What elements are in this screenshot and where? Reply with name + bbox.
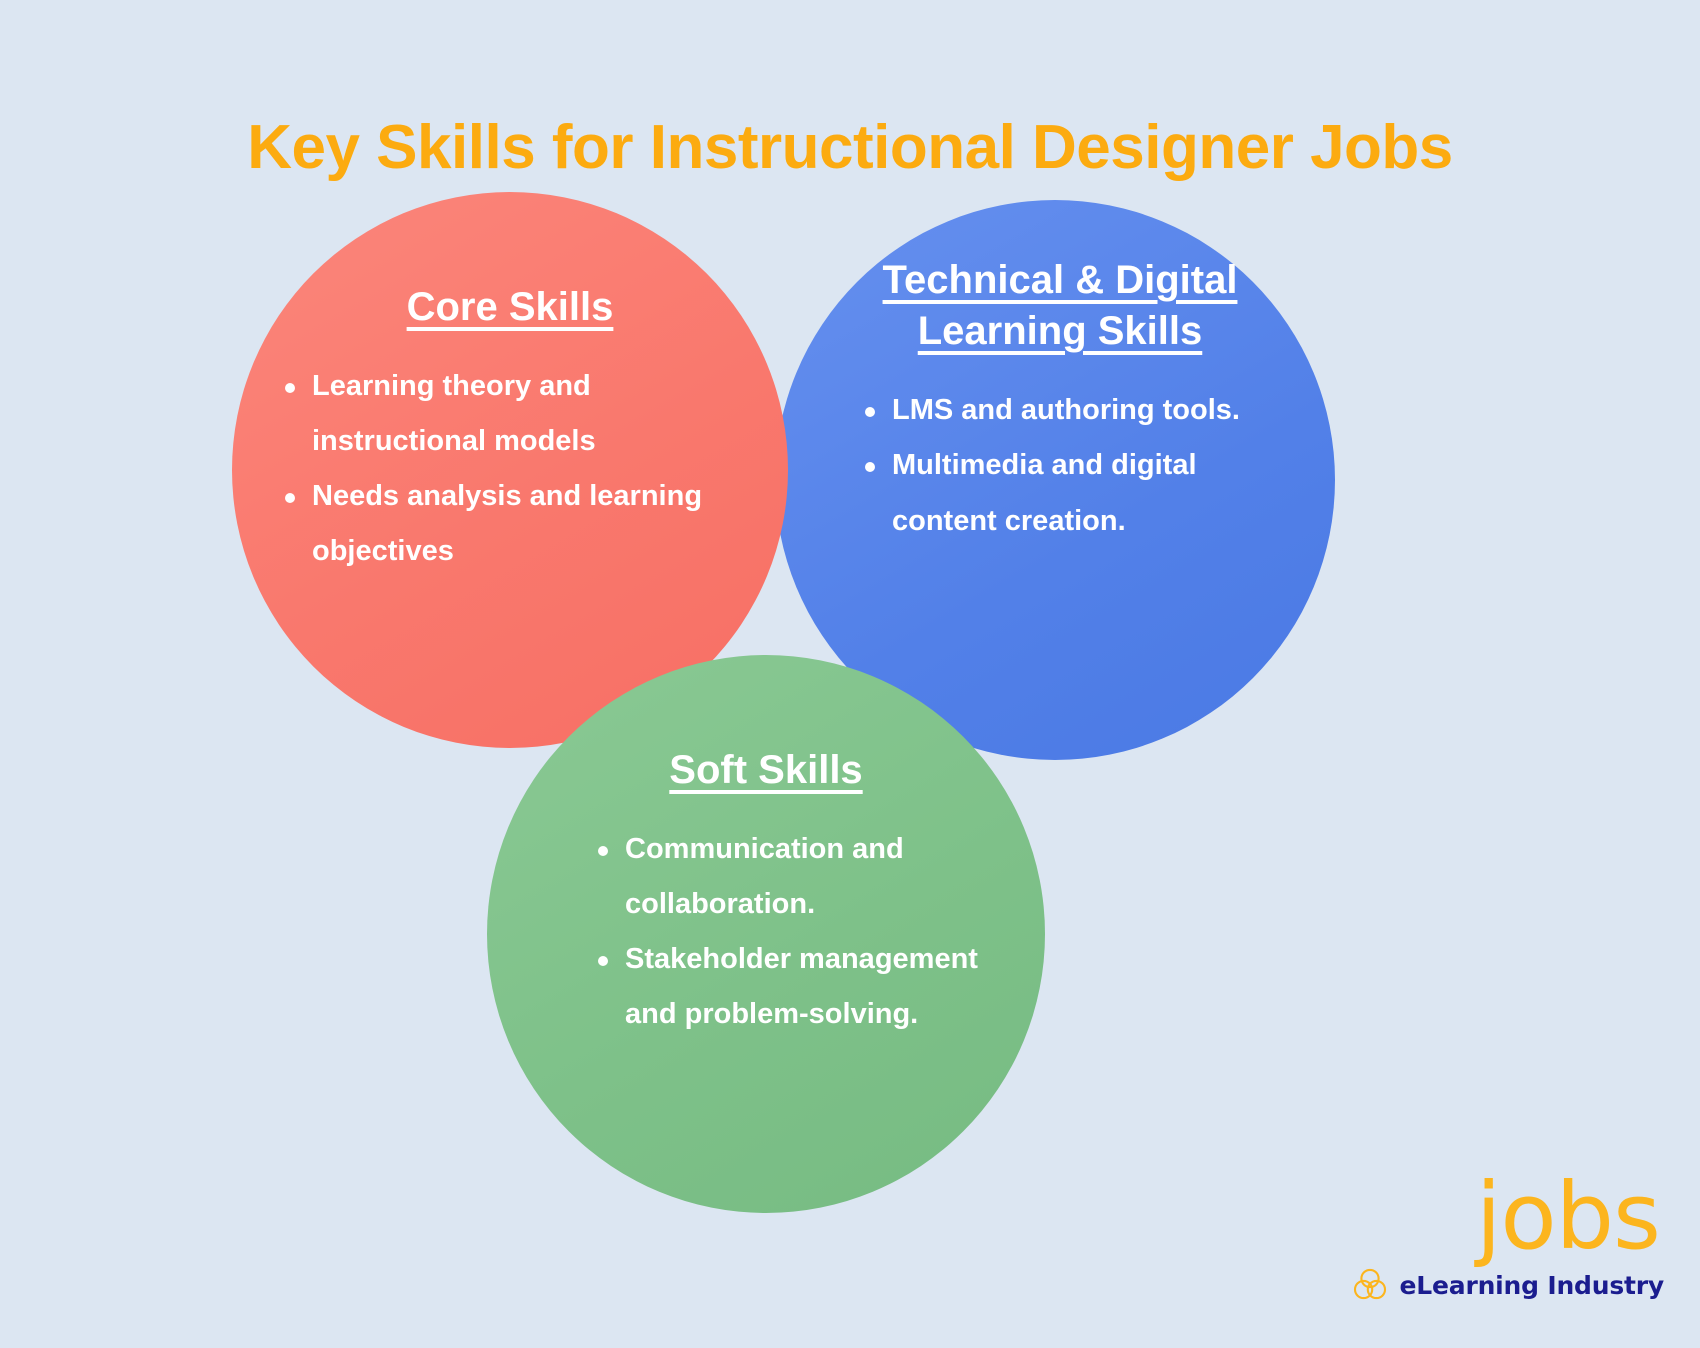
logo-subline: eLearning Industry [1349, 1264, 1664, 1306]
soft-skills-group: Soft Skills Communication and collaborat… [487, 745, 1045, 1043]
list-item: Multimedia and digital content creation. [856, 438, 1294, 548]
list-item: Needs analysis and learning objectives [276, 469, 752, 579]
core-skills-group: Core Skills Learning theory and instruct… [232, 282, 788, 580]
technical-skills-list: LMS and authoring tools. Multimedia and … [856, 383, 1294, 548]
logo-wordmark: jobs [1349, 1175, 1664, 1260]
soft-skills-heading-text: Soft Skills [669, 748, 862, 792]
soft-skills-heading: Soft Skills [549, 745, 983, 796]
core-skills-list: Learning theory and instructional models… [276, 359, 752, 579]
core-skills-heading: Core Skills [268, 282, 752, 333]
technical-skills-heading: Technical & Digital Learning Skills [826, 255, 1294, 357]
core-skills-heading-text: Core Skills [407, 285, 614, 329]
technical-skills-group: Technical & Digital Learning Skills LMS … [800, 255, 1320, 549]
soft-skills-list: Communication and collaboration. Stakeho… [589, 822, 983, 1042]
logo-tagline: eLearning Industry [1400, 1271, 1664, 1300]
trefoil-venn-icon [1349, 1264, 1391, 1306]
list-item: Stakeholder management and problem-solvi… [589, 932, 983, 1042]
page-title: Key Skills for Instructional Designer Jo… [0, 114, 1700, 182]
technical-skills-heading-line2: Learning Skills [918, 309, 1203, 353]
list-item: Learning theory and instructional models [276, 359, 752, 469]
list-item: LMS and authoring tools. [856, 383, 1294, 438]
technical-skills-heading-line1: Technical & Digital [883, 258, 1238, 302]
brand-logo: jobs eLearning Industry [1349, 1175, 1664, 1306]
infographic-canvas: Key Skills for Instructional Designer Jo… [0, 0, 1700, 1348]
list-item: Communication and collaboration. [589, 822, 983, 932]
